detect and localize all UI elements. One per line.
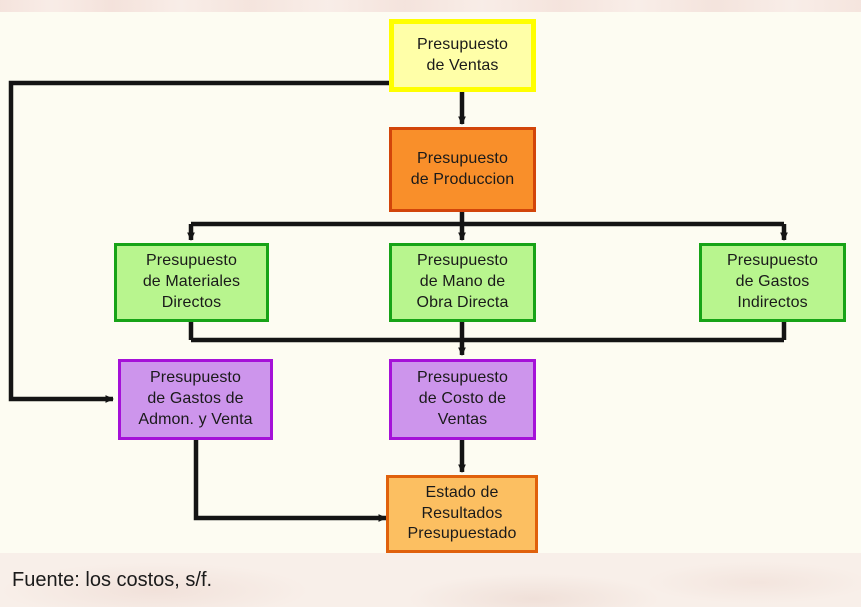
node-presupuesto-de-costo-de-ventas[interactable]: Presupuesto de Costo de Ventas xyxy=(389,359,536,440)
node-presupuesto-de-produccion[interactable]: Presupuesto de Produccion xyxy=(389,127,536,212)
node-presupuesto-de-gastos-de-admon-y-venta[interactable]: Presupuesto de Gastos de Admon. y Venta xyxy=(118,359,273,440)
node-presupuesto-de-gastos-indirectos[interactable]: Presupuesto de Gastos Indirectos xyxy=(699,243,846,322)
budget-flowchart: Presupuesto de Ventas Presupuesto de Pro… xyxy=(0,0,861,607)
edge-gastos-admon-to-estado xyxy=(196,440,386,518)
node-estado-de-resultados-presupuestado[interactable]: Estado de Resultados Presupuestado xyxy=(386,475,538,553)
source-caption: Fuente: los costos, s/f. xyxy=(12,569,212,592)
edge-ventas-to-gastos-admon xyxy=(11,83,389,399)
diagram-screenshot: Presupuesto de Ventas Presupuesto de Pro… xyxy=(0,0,861,607)
node-presupuesto-de-mano-de-obra-directa[interactable]: Presupuesto de Mano de Obra Directa xyxy=(389,243,536,322)
node-presupuesto-de-ventas[interactable]: Presupuesto de Ventas xyxy=(389,19,536,92)
node-presupuesto-de-materiales-directos[interactable]: Presupuesto de Materiales Directos xyxy=(114,243,269,322)
